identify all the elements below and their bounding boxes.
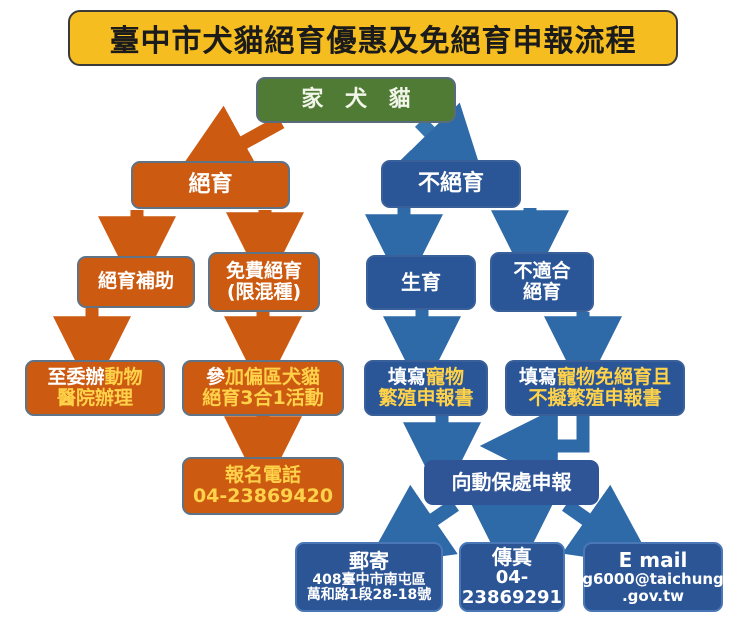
node-unfit-line1: 不適合 xyxy=(513,261,570,282)
node-breed-label: 生育 xyxy=(401,271,441,293)
node-breed[interactable]: 生育 xyxy=(366,255,476,310)
node-free-sterilize-line2: (限混種) xyxy=(227,282,301,303)
node-clinic-line2: 醫院辦理 xyxy=(57,388,133,409)
node-report[interactable]: 向動保處申報 xyxy=(424,460,599,505)
node-free-sterilize[interactable]: 免費絕育 (限混種) xyxy=(208,252,320,312)
node-form-nobreed-line1a: 填寫 xyxy=(519,366,557,388)
node-phone-line2: 04-23869420 xyxy=(193,486,333,507)
arrow-report-to-email xyxy=(566,505,616,540)
node-email-line2: .gov.tw xyxy=(622,588,684,605)
node-no-sterilize-label: 不絕育 xyxy=(418,172,484,197)
page-title: 臺中市犬貓絕育優惠及免絕育申報流程 xyxy=(68,10,678,66)
node-fax[interactable]: 傳真 04- 23869291 xyxy=(459,542,565,612)
node-mail-line1: 408臺中市南屯區 xyxy=(312,573,425,589)
arrow-formnobreed-to-report xyxy=(524,416,583,446)
node-clinic[interactable]: 至委辦動物 醫院辦理 xyxy=(25,360,165,416)
flowchart-canvas: 臺中市犬貓絕育優惠及免絕育申報流程 家 犬 貓 絕育 不絕育 絕育補助 免費絕育… xyxy=(0,0,742,643)
node-email-line1: g6000@taichung xyxy=(582,571,724,588)
node-event-line1a: 參 xyxy=(206,366,225,388)
node-form-breed-line1a: 填寫 xyxy=(388,366,426,388)
node-root[interactable]: 家 犬 貓 xyxy=(256,77,456,123)
node-fax-title: 傳真 xyxy=(492,546,532,568)
node-no-sterilize[interactable]: 不絕育 xyxy=(381,160,521,208)
node-phone-line1: 報名電話 xyxy=(225,465,301,486)
node-report-label: 向動保處申報 xyxy=(452,471,572,493)
node-subsidy[interactable]: 絕育補助 xyxy=(77,256,195,308)
node-mail-title: 郵寄 xyxy=(349,550,389,572)
node-mail-line2: 萬和路1段28-18號 xyxy=(307,588,432,604)
node-mail[interactable]: 郵寄 408臺中市南屯區 萬和路1段28-18號 xyxy=(295,542,443,612)
node-email-title: E mail xyxy=(619,549,688,571)
node-sterilize-label: 絕育 xyxy=(188,173,232,198)
node-fax-line2: 23869291 xyxy=(462,588,562,608)
node-form-nobreed[interactable]: 填寫寵物免絕育且 不擬繁殖申報書 xyxy=(505,360,685,416)
node-event[interactable]: 參加偏區犬貓 絕育3合1活動 xyxy=(182,360,344,416)
node-unfit[interactable]: 不適合 絕育 xyxy=(490,252,594,312)
node-event-line1b: 加偏區犬貓 xyxy=(225,366,320,388)
node-unfit-line2: 絕育 xyxy=(523,282,561,303)
node-form-nobreed-line1b: 寵物免絕育且 xyxy=(557,366,671,388)
node-root-label: 家 犬 貓 xyxy=(294,88,417,113)
node-form-breed-line1b: 寵物 xyxy=(426,366,464,388)
node-fax-line1: 04- xyxy=(496,568,529,588)
node-form-nobreed-line2: 不擬繁殖申報書 xyxy=(528,388,661,409)
node-free-sterilize-line1: 免費絕育 xyxy=(226,261,302,282)
node-subsidy-label: 絕育補助 xyxy=(98,271,174,292)
node-clinic-line1b: 動物 xyxy=(105,366,143,388)
arrow-root-to-sterilize xyxy=(212,122,281,160)
node-form-breed-line2: 繁殖申報書 xyxy=(378,388,473,409)
arrow-report-to-mail xyxy=(404,505,455,540)
node-sterilize[interactable]: 絕育 xyxy=(131,161,290,209)
node-email[interactable]: E mail g6000@taichung .gov.tw xyxy=(583,542,723,612)
node-form-breed[interactable]: 填寫寵物 繁殖申報書 xyxy=(364,360,488,416)
node-phone[interactable]: 報名電話 04-23869420 xyxy=(182,457,344,515)
node-clinic-line1a: 至委辦 xyxy=(47,366,104,388)
node-event-line2: 絕育3合1活動 xyxy=(202,388,323,409)
arrow-root-to-nosterilize xyxy=(420,122,455,158)
